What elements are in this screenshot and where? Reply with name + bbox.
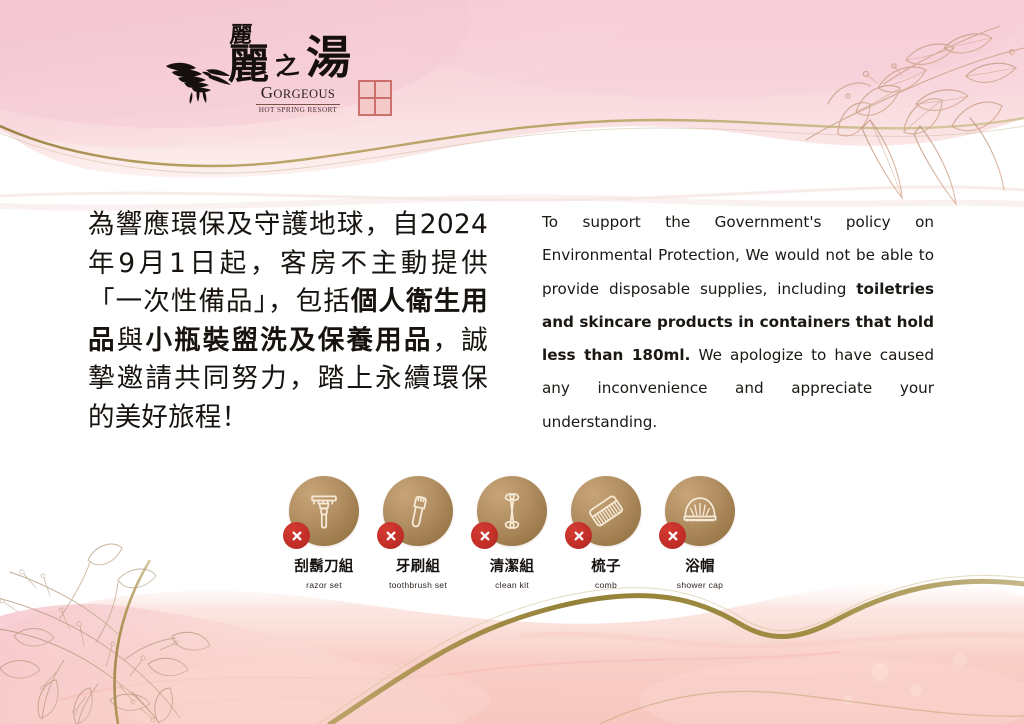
- amenity-label-cjk: 浴帽: [685, 555, 715, 576]
- excluded-amenities-list: 刮鬍刀組 razor set: [282, 476, 742, 590]
- amenity-icon-wrap: [665, 476, 735, 546]
- notice-chinese: 為響應環保及守護地球，自2024年9月1日起，客房不主動提供「一次性備品」，包括…: [88, 206, 488, 439]
- logo-calligraphy: 麗 麗 之 湯: [228, 22, 378, 88]
- notice-section: 為響應環保及守護地球，自2024年9月1日起，客房不主動提供「一次性備品」，包括…: [0, 206, 1024, 439]
- brand-name: GORGEOUS: [240, 84, 356, 103]
- red-seal-stamp: [358, 80, 392, 116]
- not-provided-badge: [659, 522, 686, 549]
- amenity-label-en: toothbrush set: [389, 580, 447, 590]
- amenity-label-en: comb: [595, 580, 617, 590]
- brand-initial: G: [261, 83, 274, 102]
- amenity-label-cjk: 刮鬍刀組: [294, 555, 353, 576]
- brand-name-rest: ORGEOUS: [273, 87, 335, 101]
- amenity-label-en: shower cap: [677, 580, 723, 590]
- amenity-item-shower-cap: 浴帽 shower cap: [658, 476, 742, 590]
- amenity-icon-wrap: [289, 476, 359, 546]
- amenity-item-razor-set: 刮鬍刀組 razor set: [282, 476, 366, 590]
- amenity-item-clean-kit: 清潔組 clean kit: [470, 476, 554, 590]
- not-provided-badge: [565, 522, 592, 549]
- not-provided-badge: [471, 522, 498, 549]
- botanical-branch-decoration: [0, 544, 210, 724]
- poster-canvas: 麗 麗 之 湯 GORGEOUS HOT SPRING RESORT 為響應環保…: [0, 0, 1024, 724]
- notice-english: To support the Government's policy on En…: [542, 206, 934, 439]
- amenity-item-comb: 梳子 comb: [564, 476, 648, 590]
- logo-char-4: 湯: [306, 36, 351, 81]
- brand-subtitle: HOT SPRING RESORT: [240, 106, 356, 114]
- not-provided-badge: [283, 522, 310, 549]
- logo-char-3: 之: [274, 54, 300, 80]
- amenity-icon-wrap: [477, 476, 547, 546]
- amenity-item-toothbrush-set: 牙刷組 toothbrush set: [376, 476, 460, 590]
- amenity-label-cjk: 梳子: [591, 555, 621, 576]
- notice-cjk-part2: 與: [117, 325, 146, 356]
- amenity-icon-wrap: [571, 476, 641, 546]
- amenity-label-cjk: 牙刷組: [396, 555, 440, 576]
- notice-cjk-bold2: 小瓶裝盥洗及保養用品: [145, 325, 432, 356]
- amenity-label-cjk: 清潔組: [490, 555, 534, 576]
- brand-wordmark: GORGEOUS HOT SPRING RESORT: [240, 84, 356, 114]
- brand-logo: 麗 麗 之 湯 GORGEOUS HOT SPRING RESORT: [162, 22, 382, 114]
- amenity-label-en: razor set: [306, 580, 342, 590]
- logo-char-2: 麗: [228, 44, 269, 85]
- flying-crane-icon: [162, 52, 234, 104]
- not-provided-badge: [377, 522, 404, 549]
- amenity-label-en: clean kit: [495, 580, 529, 590]
- leaf-branch-decoration: [806, 26, 1024, 204]
- amenity-icon-wrap: [383, 476, 453, 546]
- brand-divider: [256, 104, 340, 105]
